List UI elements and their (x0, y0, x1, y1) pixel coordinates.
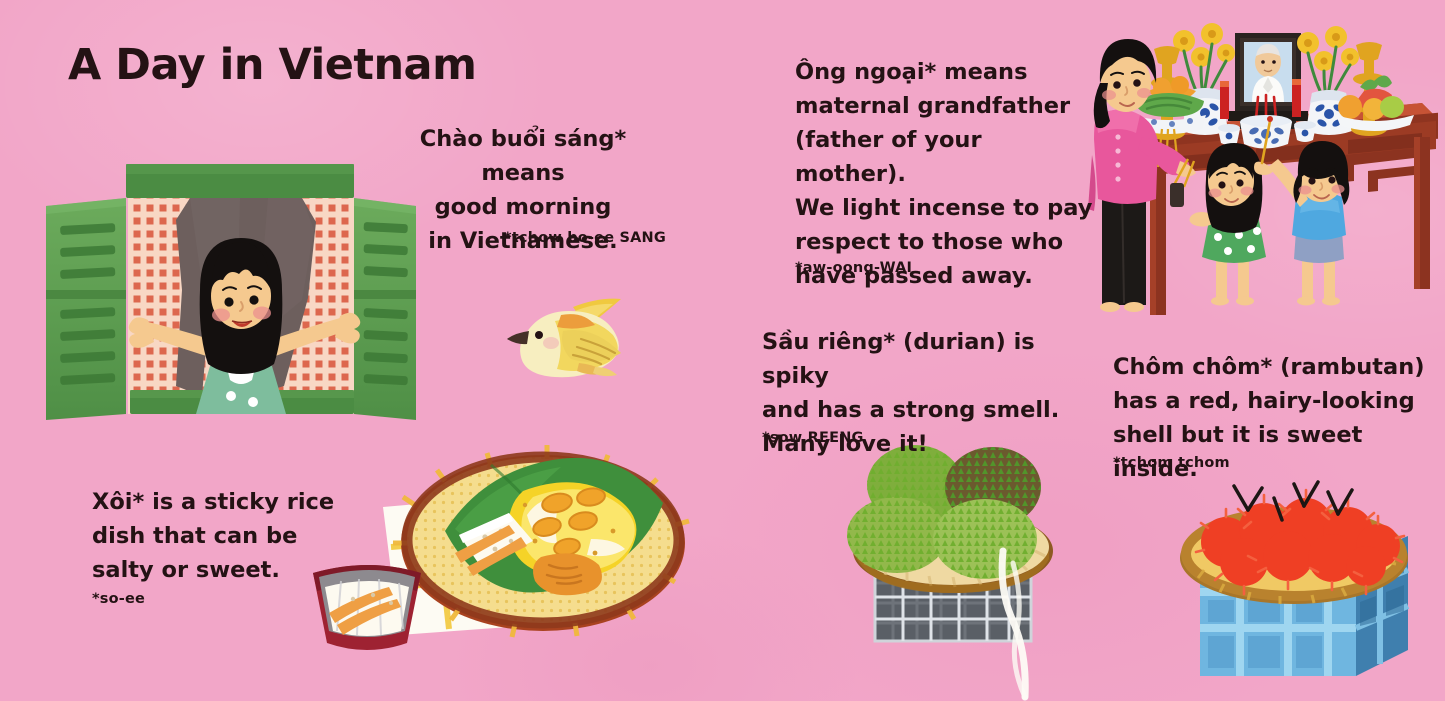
durian-line-2: and has a strong smell. (762, 393, 1082, 427)
page-title: A Day in Vietnam (68, 40, 476, 90)
greeting-pronunciation: *tchow bo-ee SANG (380, 228, 666, 248)
xoi-pronunciation: *so-ee (92, 589, 145, 609)
xoi-line-3: salty or sweet. (92, 553, 342, 587)
greeting-line-1: Chào buổi sáng* means (380, 122, 666, 190)
grandfather-line-2: maternal grandfather (795, 89, 1095, 123)
rambutan-pronunciation: *tchom tchom (1113, 453, 1230, 473)
grandfather-pronunciation: *aw-oong-WAI (795, 258, 912, 278)
sticky-rice-illustration (295, 435, 680, 660)
xoi-line-2: dish that can be (92, 519, 342, 553)
ancestor-altar-illustration (1092, 25, 1445, 315)
grandfather-line-1: Ông ngoại* means (795, 55, 1095, 89)
xoi-text: Xôi* is a sticky rice dish that can be s… (92, 485, 342, 587)
grandfather-line-3: (father of your mother). (795, 123, 1095, 191)
rambutan-line-3: shell but it is sweet inside. (1113, 418, 1433, 486)
rambutan-line-2: has a red, hairy-looking (1113, 384, 1433, 418)
girl-opening-window-illustration (40, 150, 420, 440)
xoi-line-1: Xôi* is a sticky rice (92, 485, 342, 519)
book-spread: A Day in Vietnam (0, 0, 1445, 701)
grandfather-line-4: We light incense to pay (795, 191, 1095, 225)
yellow-bird-illustration (495, 295, 655, 390)
durian-line-1: Sầu riêng* (durian) is spiky (762, 325, 1082, 393)
grandfather-line-5: respect to those who (795, 225, 1095, 259)
rambutan-line-1: Chôm chôm* (rambutan) (1113, 350, 1433, 384)
rambutan-stall-illustration (1178, 470, 1436, 701)
greeting-line-2: good morning (380, 190, 666, 224)
durian-stall-illustration (845, 443, 1115, 701)
durian-pronunciation: *sow REENG (762, 428, 864, 448)
